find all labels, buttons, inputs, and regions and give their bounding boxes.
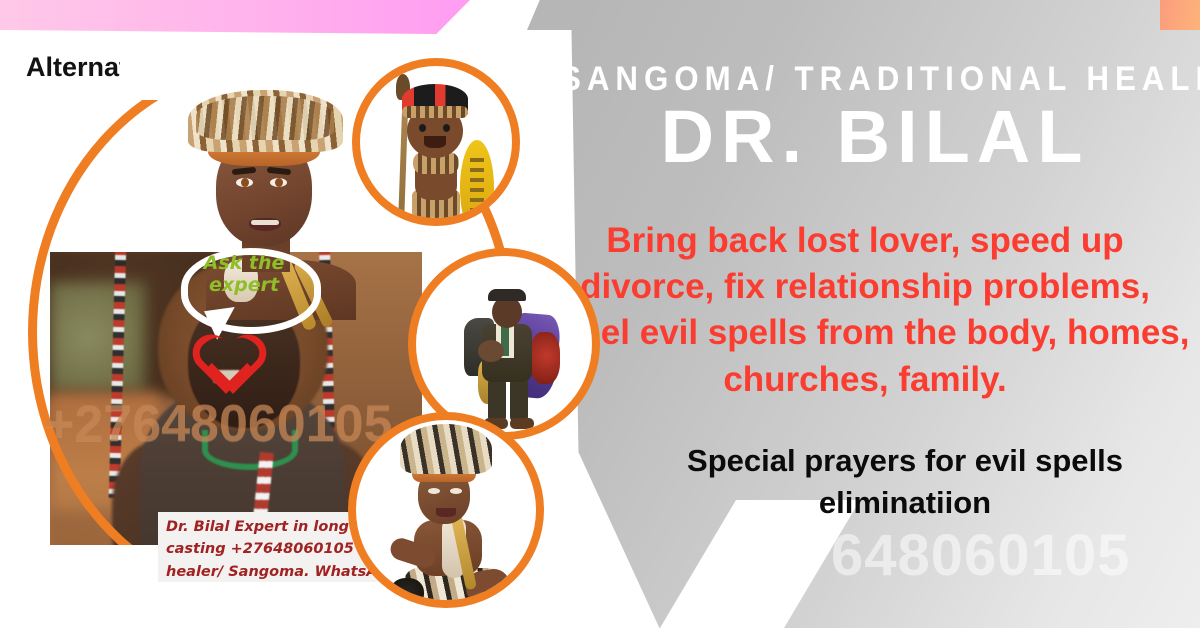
caped-healer-leg-left <box>488 378 506 422</box>
phone-watermark-right: +27648060105 <box>660 522 1200 589</box>
poster-canvas: SANGOMA/ TRADITIONAL HEALER DR. BILAL Br… <box>0 0 1200 628</box>
crouching-sangoma-eye-left <box>428 488 440 494</box>
crouching-sangoma-feather-crown <box>400 424 492 474</box>
caped-healer-hat <box>488 289 526 301</box>
zulu-warrior-headband <box>402 106 468 118</box>
page-title: DR. BILAL <box>560 100 1190 174</box>
hero-teeth <box>251 220 279 225</box>
circle-crouching-sangoma <box>348 412 544 608</box>
hero-pupil-left <box>241 178 249 187</box>
zulu-warrior-eye-right <box>443 124 450 132</box>
hero-pupil-right <box>275 178 283 187</box>
kicker-heading: SANGOMA/ TRADITIONAL HEALER <box>560 60 1130 99</box>
caped-healer-cape-medallion <box>530 332 560 384</box>
caped-healer-shoe-right <box>510 418 534 429</box>
hero-feather-crown-inner <box>196 96 334 140</box>
zulu-warrior-smile <box>424 136 446 148</box>
crouching-sangoma-mouth <box>436 508 456 517</box>
circle-caped-healer <box>408 248 600 440</box>
top-strip-orange <box>1160 0 1200 30</box>
speech-bubble-label: Ask the expert <box>183 252 305 297</box>
caped-healer-leg-right <box>510 378 528 422</box>
services-text: Bring back lost lover, speed up divorce,… <box>540 218 1190 403</box>
phone-watermark-photo: +27648060105 <box>44 394 393 454</box>
zulu-warrior-eye-left <box>419 124 426 132</box>
crouching-sangoma-eye-right <box>450 488 462 494</box>
circle-zulu-warrior <box>352 58 520 226</box>
zulu-warrior-shield-markings <box>470 158 484 216</box>
top-strip-pink <box>0 0 470 34</box>
subheading-text: Special prayers for evil spells eliminat… <box>620 440 1190 524</box>
caped-healer-arm <box>478 340 504 362</box>
